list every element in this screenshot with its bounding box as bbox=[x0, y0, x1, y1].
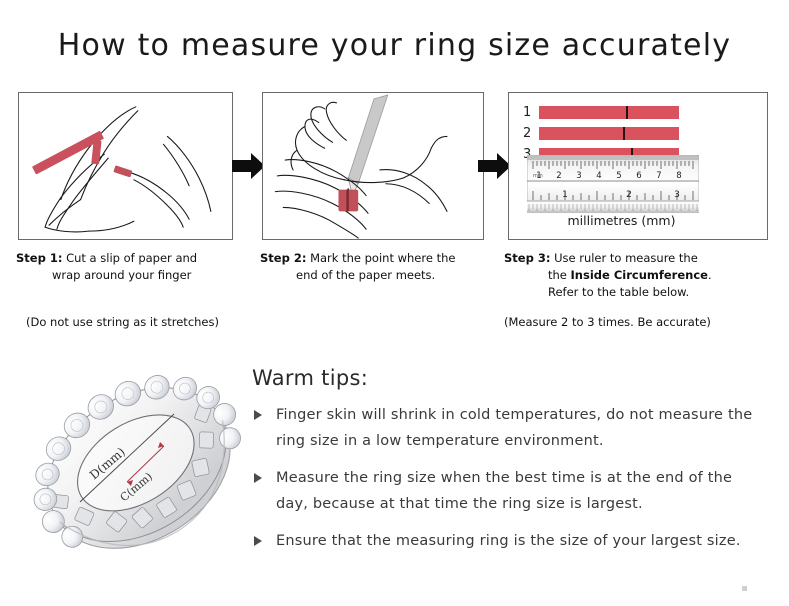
paper-strip-bar-1 bbox=[539, 106, 679, 119]
step-3-line2-tail: . bbox=[708, 268, 712, 282]
step-3-caption: Step 3: Use ruler to measure the the Ins… bbox=[504, 250, 774, 301]
warm-tips-heading: Warm tips: bbox=[252, 366, 368, 390]
measured-strip-row-1: 1 bbox=[523, 105, 679, 120]
step-3-note: (Measure 2 to 3 times. Be accurate) bbox=[504, 315, 711, 329]
strip-number-1: 1 bbox=[523, 105, 539, 120]
svg-text:7: 7 bbox=[656, 171, 661, 181]
step-1-illustration-panel bbox=[18, 92, 233, 240]
svg-text:4: 4 bbox=[596, 171, 601, 181]
step-2-caption: Step 2: Mark the point where the end of … bbox=[260, 250, 500, 284]
ring-diagram: D(mm) C(mm) bbox=[24, 352, 254, 584]
arrow-right-icon-1 bbox=[232, 150, 266, 182]
svg-text:2: 2 bbox=[626, 190, 632, 200]
warm-tips-list: Finger skin will shrink in cold temperat… bbox=[252, 402, 762, 565]
hand-with-paper-strip-illustration bbox=[19, 93, 232, 239]
warm-tip-item-2: Measure the ring size when the best time… bbox=[252, 465, 762, 517]
step-2-illustration-panel bbox=[262, 92, 484, 240]
step-3-line1: Use ruler to measure the bbox=[550, 251, 697, 265]
triangle-bullet-icon bbox=[254, 473, 262, 483]
step-3-line2-prefix: the bbox=[548, 268, 571, 282]
step-1-caption: Step 1: Cut a slip of paper and wrap aro… bbox=[16, 250, 256, 284]
svg-text:2: 2 bbox=[556, 171, 561, 181]
hand-marking-paper-with-pen-illustration bbox=[263, 93, 483, 239]
svg-text:1: 1 bbox=[562, 190, 568, 200]
step-3-illustration-panel: 1 2 3 bbox=[508, 92, 768, 240]
step-1-line1: Cut a slip of paper and bbox=[62, 251, 197, 265]
step-1-line2: wrap around your finger bbox=[16, 267, 256, 284]
step-2-line2: end of the paper meets. bbox=[260, 267, 500, 284]
strip-number-2: 2 bbox=[523, 126, 539, 141]
svg-text:8: 8 bbox=[676, 171, 681, 181]
strip-tick-2 bbox=[623, 127, 625, 140]
measured-strip-row-2: 2 bbox=[523, 126, 679, 141]
svg-text:6: 6 bbox=[636, 171, 641, 181]
triangle-bullet-icon bbox=[254, 410, 262, 420]
step-3-line3: Refer to the table below. bbox=[504, 284, 774, 301]
paper-strip-red bbox=[32, 131, 132, 178]
step-2-line1: Mark the point where the bbox=[306, 251, 455, 265]
triangle-bullet-icon bbox=[254, 536, 262, 546]
svg-text:5: 5 bbox=[616, 171, 621, 181]
pen-shape bbox=[345, 95, 387, 196]
warm-tip-item-3: Ensure that the measuring ring is the si… bbox=[252, 528, 762, 554]
svg-text:3: 3 bbox=[576, 171, 581, 181]
step-3-lead: Step 3: bbox=[504, 251, 550, 265]
svg-text:mm: mm bbox=[533, 173, 543, 179]
paper-strip-bar-2 bbox=[539, 127, 679, 140]
step-3-inside-circumference: Inside Circumference bbox=[571, 268, 708, 282]
warm-tip-item-1: Finger skin will shrink in cold temperat… bbox=[252, 402, 762, 454]
strip-tick-1 bbox=[626, 106, 628, 119]
warm-tip-text-1: Finger skin will shrink in cold temperat… bbox=[276, 407, 752, 449]
svg-text:3: 3 bbox=[674, 190, 680, 200]
ruler-unit-caption: millimetres (mm) bbox=[509, 213, 734, 228]
diamond-eternity-ring-photo: D(mm) C(mm) bbox=[24, 352, 254, 584]
warm-tip-text-3: Ensure that the measuring ring is the si… bbox=[276, 533, 741, 549]
step-1-lead: Step 1: bbox=[16, 251, 62, 265]
paper-strip-red bbox=[338, 190, 358, 212]
step-2-lead: Step 2: bbox=[260, 251, 306, 265]
corner-artifact bbox=[742, 586, 747, 591]
steps-row: 1 2 3 bbox=[0, 92, 789, 242]
step-1-note: (Do not use string as it stretches) bbox=[26, 315, 219, 329]
arrow-right-icon-2 bbox=[478, 150, 512, 182]
ruler-graphic: 1 2 3 4 5 6 7 8 mm bbox=[527, 155, 699, 213]
warm-tip-text-2: Measure the ring size when the best time… bbox=[276, 470, 732, 512]
step-3-line2: the Inside Circumference. bbox=[504, 267, 774, 284]
page-title: How to measure your ring size accurately bbox=[0, 28, 789, 63]
